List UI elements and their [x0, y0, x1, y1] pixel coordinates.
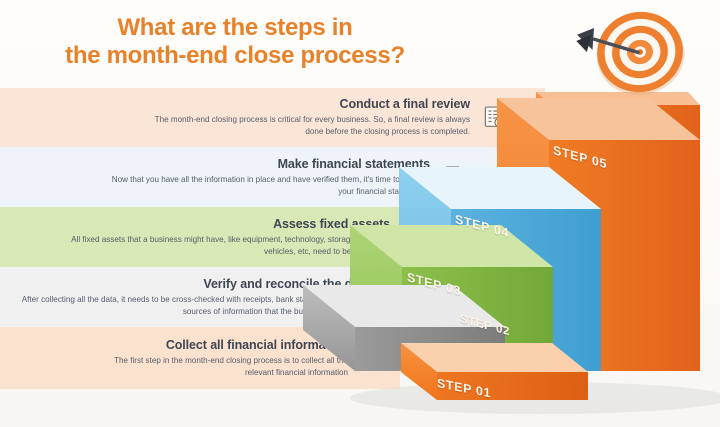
dartboard-target-icon	[548, 4, 713, 109]
step-heading-02: Verify and reconcile the data	[20, 277, 370, 291]
step-text-05: Conduct a final review The month-end clo…	[140, 97, 470, 137]
step-block-05	[536, 92, 700, 368]
step-label-01: STEP 01	[437, 376, 491, 400]
step-description-03: All fixed assets that a business might h…	[60, 234, 390, 257]
infographic-canvas: What are the steps in the month-end clos…	[0, 0, 720, 427]
step-text-03: Assess fixed assets All fixed assets tha…	[60, 217, 390, 257]
step-label-02: STEP 02	[460, 313, 510, 338]
step-text-01: Collect all financial information The fi…	[103, 338, 348, 378]
financial-chart-search-icon	[358, 343, 388, 373]
financial-report-icon	[440, 162, 470, 192]
database-shield-check-icon	[380, 282, 410, 312]
step-text-02: Verify and reconcile the data After coll…	[20, 277, 370, 317]
page-title-line-2: the month-end close process?	[0, 42, 470, 70]
step-heading-05: Conduct a final review	[140, 97, 470, 111]
step-heading-01: Collect all financial information	[103, 338, 348, 352]
step-description-04: Now that you have all the information in…	[100, 174, 430, 197]
step-band-04: Make financial statements Now that you h…	[0, 147, 508, 207]
page-title: What are the steps in the month-end clos…	[0, 14, 470, 71]
step-band-03: Assess fixed assets All fixed assets tha…	[0, 207, 470, 267]
step-description-01: The first step in the month-end closing …	[103, 355, 348, 378]
step-band-05: Conduct a final review The month-end clo…	[0, 88, 545, 147]
document-search-icon	[480, 103, 510, 133]
step-heading-03: Assess fixed assets	[60, 217, 390, 231]
page-title-line-1: What are the steps in	[117, 14, 352, 41]
step-band-01: Collect all financial information The fi…	[0, 327, 400, 389]
dart-arrow-icon	[574, 20, 638, 64]
step-heading-04: Make financial statements	[100, 157, 430, 171]
step-label-05: STEP 05	[553, 143, 607, 171]
step-text-04: Make financial statements Now that you h…	[100, 157, 430, 197]
asset-magnifier-icon	[400, 222, 430, 252]
step-description-02: After collecting all the data, it needs …	[20, 294, 370, 317]
step-block-01	[401, 343, 588, 400]
step-band-02: Verify and reconcile the data After coll…	[0, 267, 432, 327]
step-description-05: The month-end closing process is critica…	[140, 114, 470, 137]
